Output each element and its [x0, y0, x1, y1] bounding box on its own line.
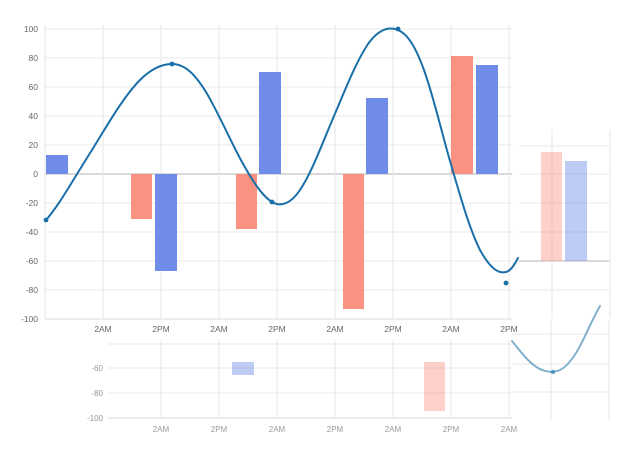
bar-blue[interactable] [46, 155, 68, 174]
bar-group[interactable] [46, 56, 498, 309]
bar-red[interactable] [451, 56, 473, 174]
bottom-clip-panel[interactable]: -60 -80 -100 2AM 2PM 2AM 2PM 2AM 2PM 2AM [0, 340, 520, 462]
bar-red-faded[interactable] [541, 152, 562, 261]
chart-root: 100 80 60 40 20 0 -20 -40 -60 -80 -100 2… [0, 0, 617, 462]
bottom-right-trough-panel[interactable] [512, 320, 617, 430]
x-tick-label: 2PM [152, 324, 169, 334]
y-axis-ticks: 100 80 60 40 20 0 -20 -40 -60 -80 -100 [21, 24, 38, 324]
bar-blue-faded[interactable] [565, 161, 587, 261]
main-chart-svg[interactable]: 100 80 60 40 20 0 -20 -40 -60 -80 -100 2… [0, 0, 520, 340]
line-marker-point [270, 200, 275, 205]
bar-blue[interactable] [476, 65, 498, 174]
line-marker-point [44, 218, 49, 223]
bar-blue[interactable] [259, 72, 281, 174]
bottom-panel-svg[interactable]: -60 -80 -100 2AM 2PM 2AM 2PM 2AM 2PM 2AM [0, 340, 520, 462]
bar-red-clipped[interactable] [424, 362, 445, 411]
x-axis-ticks: 2AM 2PM 2AM 2PM 2AM 2PM 2AM 2PM [94, 324, 517, 334]
bottom-panel-y-ticks: -60 -80 -100 [87, 364, 104, 423]
y-tick-label: -100 [21, 314, 38, 324]
x-tick-label: 2PM [384, 324, 401, 334]
bottom-right-panel-svg[interactable] [512, 320, 617, 430]
right-panel-svg[interactable] [519, 130, 617, 320]
line-marker-point [170, 62, 175, 67]
y-tick-label: 40 [29, 111, 39, 121]
y-tick-label: 20 [29, 140, 39, 150]
x-tick-label: 2AM [269, 425, 286, 434]
y-tick-label: 60 [29, 82, 39, 92]
y-tick-label: -60 [91, 364, 103, 373]
x-tick-label: 2AM [442, 324, 459, 334]
sine-line[interactable] [46, 29, 518, 273]
x-tick-label: 2AM [210, 324, 227, 334]
y-tick-label: 0 [33, 169, 38, 179]
y-tick-label: 100 [24, 24, 38, 34]
bar-blue-clipped[interactable] [232, 362, 254, 375]
x-tick-label: 2AM [326, 324, 343, 334]
x-tick-label: 2PM [211, 425, 228, 434]
x-tick-label: 2PM [268, 324, 285, 334]
y-tick-label: -100 [87, 414, 104, 423]
bar-blue[interactable] [366, 98, 388, 174]
x-tick-label: 2PM [443, 425, 460, 434]
line-marker-point [504, 281, 509, 286]
y-tick-label: 80 [29, 53, 39, 63]
line-marker-point-faded [551, 370, 555, 374]
bar-red[interactable] [343, 174, 364, 309]
y-tick-label: -80 [91, 389, 103, 398]
y-tick-label: -20 [26, 198, 39, 208]
right-panel-gridlines [519, 130, 610, 318]
line-marker-point [396, 27, 401, 32]
x-tick-label: 2AM [385, 425, 402, 434]
right-faded-panel[interactable] [519, 130, 617, 320]
y-tick-label: -60 [26, 256, 39, 266]
bar-blue[interactable] [155, 174, 177, 271]
main-chart-panel[interactable]: 100 80 60 40 20 0 -20 -40 -60 -80 -100 2… [0, 0, 520, 340]
x-tick-label: 2PM [327, 425, 344, 434]
bottom-panel-x-ticks: 2AM 2PM 2AM 2PM 2AM 2PM 2AM [153, 425, 518, 434]
x-tick-label: 2AM [153, 425, 170, 434]
x-tick-label: 2AM [94, 324, 111, 334]
bottom-panel-gridlines [108, 340, 512, 418]
bar-red[interactable] [131, 174, 152, 219]
y-tick-label: -80 [26, 285, 39, 295]
y-tick-label: -40 [26, 227, 39, 237]
